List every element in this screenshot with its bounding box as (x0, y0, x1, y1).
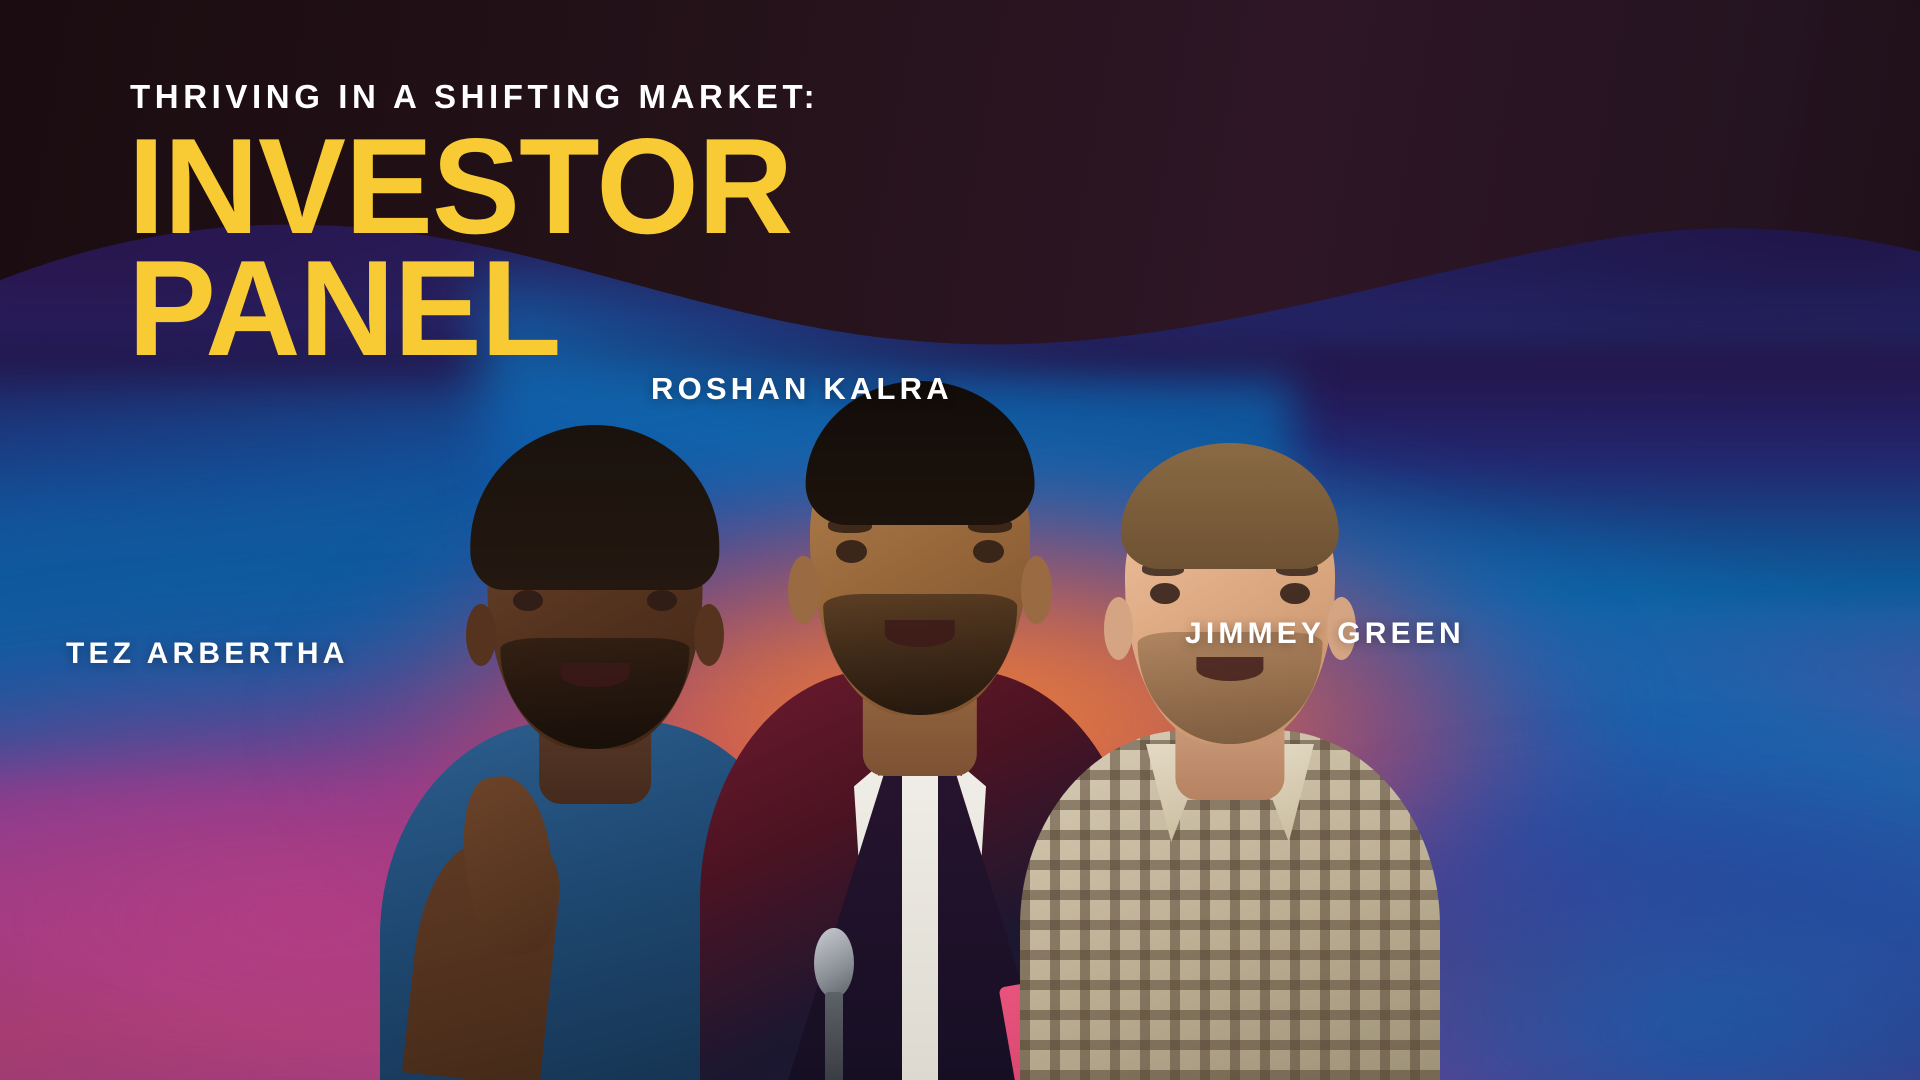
headline-line-2: PANEL (128, 249, 798, 369)
speaker-portrait-jimmey-green (1020, 380, 1440, 1080)
event-promo-poster: THRIVING IN A SHIFTING MARKET: INVESTOR … (0, 0, 1920, 1080)
mouth-shape (885, 620, 955, 647)
portrait-figure (1020, 380, 1440, 1080)
mouth-shape (1196, 657, 1263, 682)
eyebrow-text: THRIVING IN A SHIFTING MARKET: (130, 80, 819, 113)
hair-shape (1121, 443, 1339, 569)
eye-right (1280, 583, 1309, 604)
microphone-head (814, 928, 854, 998)
speaker-name-roshan-kalra: ROSHAN KALRA (651, 371, 953, 407)
eye-left (513, 590, 543, 611)
eye-left (1150, 583, 1179, 604)
ear-left (788, 556, 819, 624)
speaker-name-jimmey-green: JIMMEY GREEN (1185, 617, 1465, 651)
microphone-icon (814, 928, 854, 1080)
speaker-name-tez-arbertha: TEZ ARBERTHA (66, 637, 349, 671)
mouth-shape (561, 663, 630, 687)
hair-shape (470, 425, 719, 591)
ear-left (466, 604, 496, 666)
microphone-body (825, 992, 842, 1080)
title-block: THRIVING IN A SHIFTING MARKET: INVESTOR … (128, 80, 819, 368)
eye-right (973, 540, 1004, 563)
page-title: INVESTOR PANEL (128, 127, 798, 368)
eye-right (647, 590, 677, 611)
ear-left (1104, 597, 1133, 660)
